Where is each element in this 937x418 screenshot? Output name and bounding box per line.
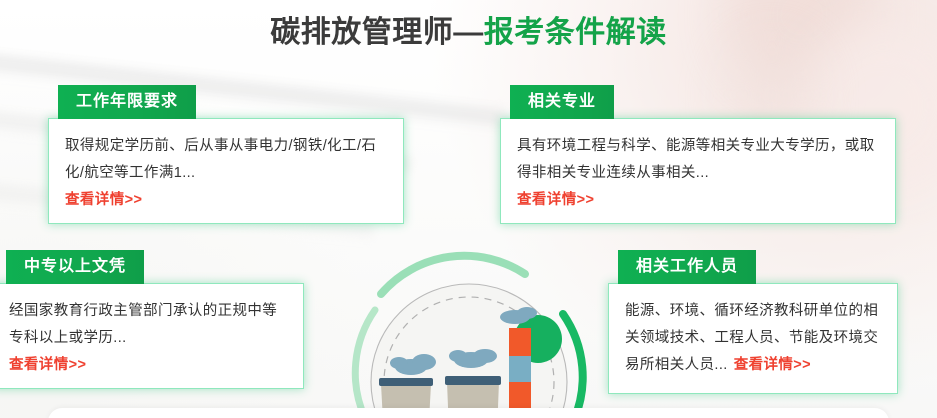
card-diploma: 中专以上文凭 经国家教育行政主管部门承认的正规中等专科以上或学历... 查看详情…	[0, 250, 304, 389]
card-related-worker-text: 能源、环境、循环经济教科研单位的相关领域技术、工程人员、节能及环境交易所相关人员…	[625, 298, 881, 379]
card-related-major-detail-link[interactable]: 查看详情>>	[517, 188, 879, 209]
card-related-major-tab: 相关专业	[510, 85, 614, 119]
card-work-years-text: 取得规定学历前、后从事从事电力/钢铁/化工/石化/航空等工作满1...	[65, 133, 387, 187]
card-work-years: 工作年限要求 取得规定学历前、后从事从事电力/钢铁/化工/石化/航空等工作满1.…	[48, 85, 404, 224]
card-work-years-tab: 工作年限要求	[58, 85, 196, 119]
card-related-major: 相关专业 具有环境工程与科学、能源等相关专业大专学历，或取得非相关专业连续从事相…	[500, 85, 896, 224]
card-related-major-text: 具有环境工程与科学、能源等相关专业大专学历，或取得非相关专业连续从事相关...	[517, 133, 879, 187]
page-title-accent: 报考条件解读	[484, 16, 667, 49]
card-diploma-text: 经国家教育行政主管部门承认的正规中等专科以上或学历...	[9, 298, 287, 352]
page-title-main: 碳排放管理师—	[270, 16, 484, 49]
promo-banner: 碳排放管理师—报考条件解读 工作年限要求 取得规定学历前、后从事从事电力/钢铁/…	[0, 0, 937, 418]
page-title: 碳排放管理师—报考条件解读	[0, 16, 937, 49]
card-diploma-body: 经国家教育行政主管部门承认的正规中等专科以上或学历... 查看详情>>	[0, 283, 304, 389]
card-work-years-body: 取得规定学历前、后从事从事电力/钢铁/化工/石化/航空等工作满1... 查看详情…	[48, 118, 404, 224]
card-diploma-detail-link[interactable]: 查看详情>>	[9, 353, 287, 374]
card-work-years-detail-link[interactable]: 查看详情>>	[65, 188, 387, 209]
card-related-worker-body: 能源、环境、循环经济教科研单位的相关领域技术、工程人员、节能及环境交易所相关人员…	[608, 283, 898, 394]
power-plant-illustration	[319, 232, 619, 418]
card-related-worker-tab: 相关工作人员	[618, 250, 756, 284]
card-related-major-body: 具有环境工程与科学、能源等相关专业大专学历，或取得非相关专业连续从事相关... …	[500, 118, 896, 224]
bottom-panel	[48, 408, 889, 418]
card-related-worker-detail-link[interactable]: 查看详情>>	[734, 357, 811, 373]
card-related-worker: 相关工作人员 能源、环境、循环经济教科研单位的相关领域技术、工程人员、节能及环境…	[608, 250, 898, 394]
card-diploma-tab: 中专以上文凭	[6, 250, 144, 284]
